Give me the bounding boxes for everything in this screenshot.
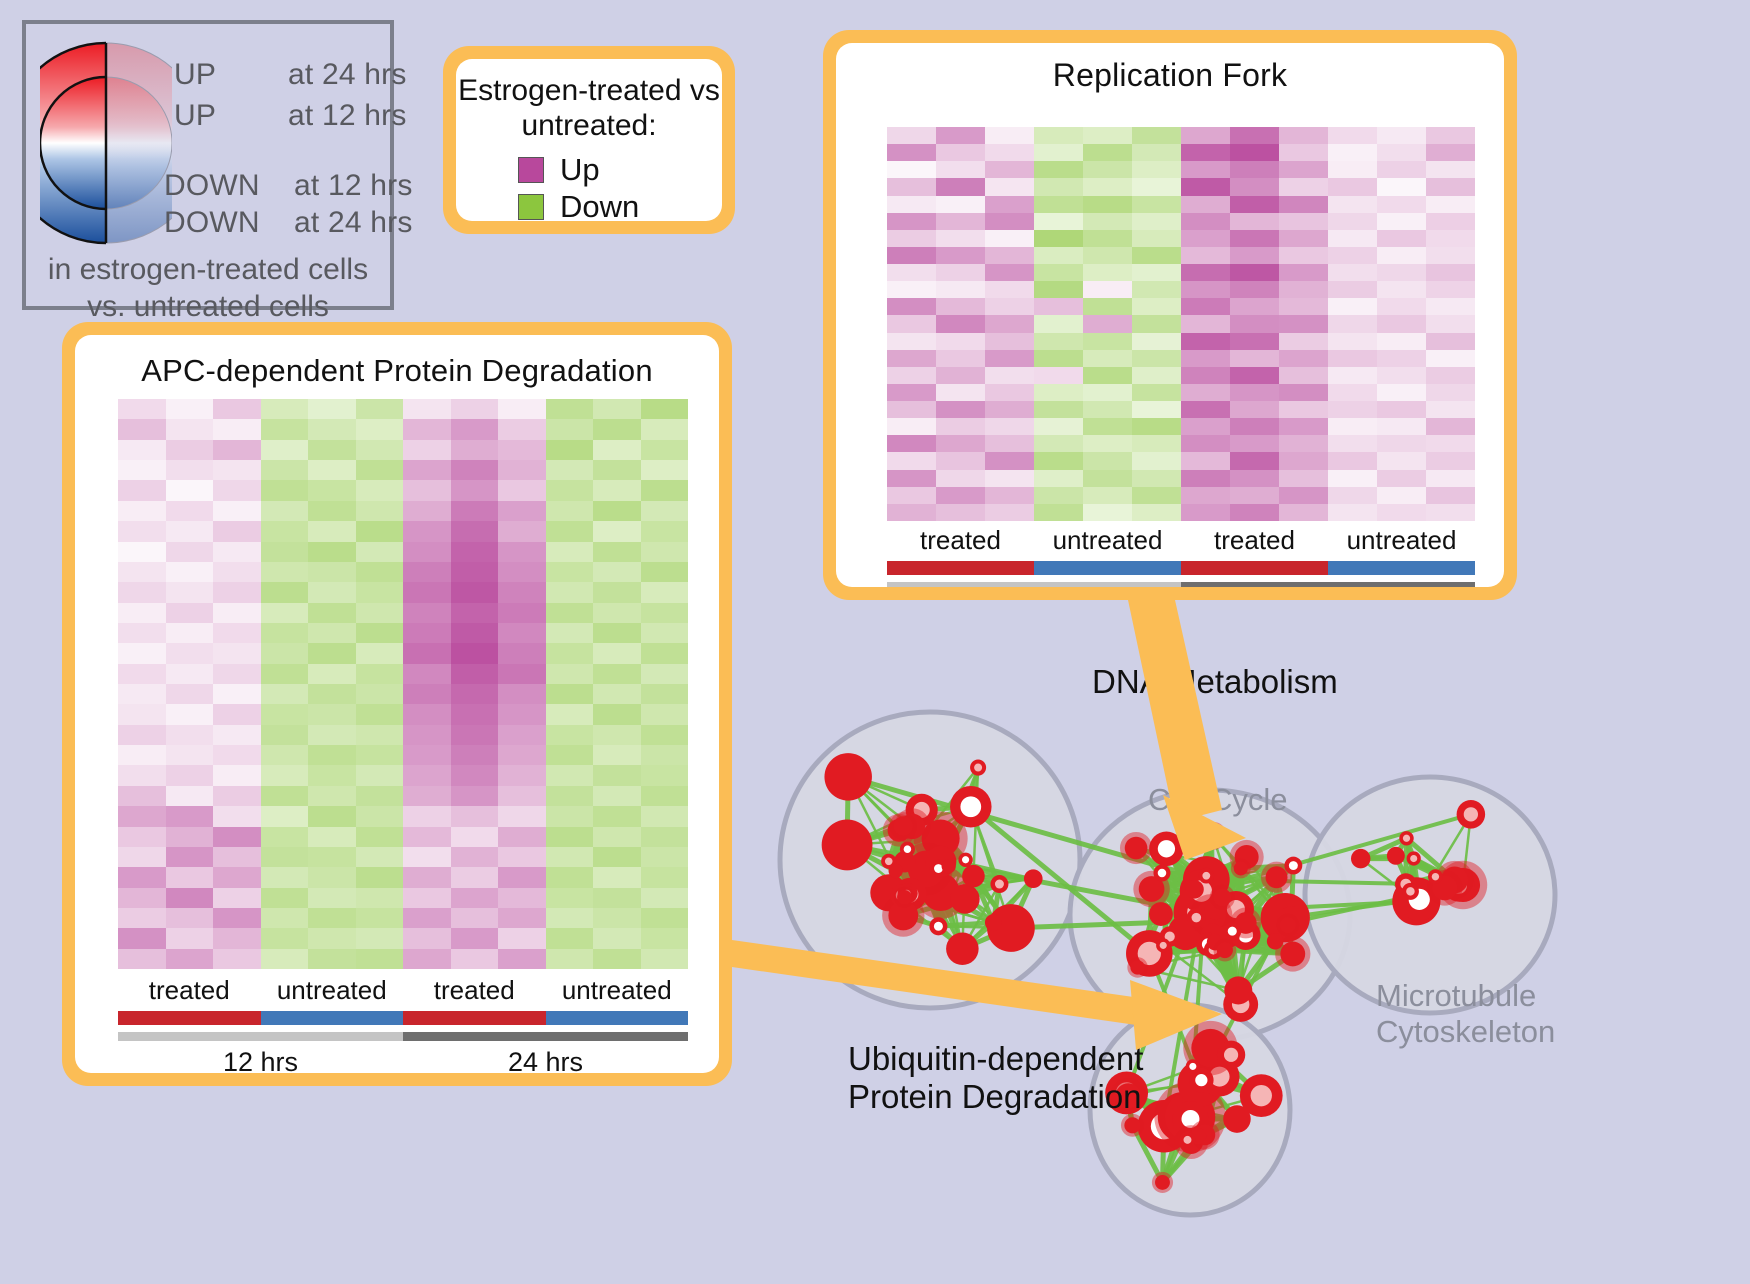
network-node-core [1228, 927, 1237, 936]
heatmap-cell [1132, 350, 1181, 367]
network-node[interactable] [1217, 942, 1233, 958]
heatmap-cell [261, 847, 309, 867]
apc-heatmap [118, 399, 688, 969]
heatmap-cell [593, 867, 641, 887]
heatmap-cell [261, 542, 309, 562]
network-node-core [1184, 1136, 1192, 1144]
heatmap-cell [1083, 452, 1132, 469]
heatmap-cell [261, 806, 309, 826]
network-node[interactable] [950, 884, 980, 914]
heatmap-cell [451, 521, 499, 541]
network-node-core [1192, 913, 1202, 923]
heatmap-cell [1377, 247, 1426, 264]
heatmap-cell [1426, 264, 1475, 281]
heatmap-cell [356, 888, 404, 908]
heatmap-cell [1083, 333, 1132, 350]
heatmap-cell [308, 928, 356, 948]
heatmap-cell [593, 745, 641, 765]
heatmap-cell [546, 928, 594, 948]
treatment-label: untreated [1034, 525, 1181, 556]
heatmap-cell [641, 786, 689, 806]
heatmap-cell [641, 847, 689, 867]
ring-label-down-24: DOWN [164, 206, 260, 240]
heatmap-cell [1426, 367, 1475, 384]
heatmap-cell [1279, 213, 1328, 230]
heatmap-cell [546, 664, 594, 684]
heatmap-cell [1279, 264, 1328, 281]
heatmap-cell [261, 888, 309, 908]
heatmap-cell [1328, 350, 1377, 367]
heatmap-cell [546, 806, 594, 826]
heatmap-cell [593, 603, 641, 623]
heatmap-cell [641, 765, 689, 785]
heatmap-cell [403, 440, 451, 460]
heatmap-cell [1132, 367, 1181, 384]
heatmap-cell [403, 908, 451, 928]
heatmap-cell [1132, 144, 1181, 161]
heatmap-cell [1181, 401, 1230, 418]
network-node[interactable] [985, 914, 1002, 931]
network-node-core [1158, 869, 1167, 878]
heatmap-cell [641, 440, 689, 460]
treatment-label: treated [118, 975, 261, 1006]
heatmap-cell [985, 487, 1034, 504]
heatmap-cell [118, 949, 166, 969]
network-node[interactable] [822, 820, 873, 871]
heatmap-cell [403, 725, 451, 745]
heatmap-cell [1279, 196, 1328, 213]
heatmap-cell [118, 765, 166, 785]
heatmap-cell [1132, 401, 1181, 418]
heatmap-cell [1279, 178, 1328, 195]
heatmap-cell [641, 521, 689, 541]
network-node[interactable] [889, 864, 903, 878]
heatmap-cell [261, 949, 309, 969]
heatmap-cell [593, 949, 641, 969]
heatmap-cell [641, 623, 689, 643]
heatmap-cell [261, 725, 309, 745]
heatmap-cell [887, 127, 936, 144]
network-node-core [1410, 855, 1417, 862]
heatmap-cell [641, 562, 689, 582]
heatmap-cell [1181, 470, 1230, 487]
heatmap-cell [308, 460, 356, 480]
heatmap-cell [213, 704, 261, 724]
heatmap-cell [1034, 350, 1083, 367]
treatment-labels-row: treateduntreatedtreateduntreated [118, 975, 688, 1006]
heatmap-cell [166, 643, 214, 663]
heatmap-cell [593, 827, 641, 847]
heatmap-cell [498, 949, 546, 969]
heatmap-cell [1083, 418, 1132, 435]
heatmap-cell [403, 847, 451, 867]
heatmap-cell [403, 765, 451, 785]
heatmap-cell [1377, 161, 1426, 178]
heatmap-cell [936, 230, 985, 247]
heatmap-cell [1034, 435, 1083, 452]
heatmap-cell [213, 765, 261, 785]
heatmap-cell [936, 504, 985, 521]
time-label: 24 hrs [403, 1047, 688, 1073]
network-node[interactable] [1266, 866, 1288, 888]
heatmap-cell [213, 623, 261, 643]
treatment-bar-segment [1328, 561, 1475, 575]
heatmap-cell [166, 786, 214, 806]
heatmap-cell [887, 213, 936, 230]
heatmap-cell [936, 161, 985, 178]
heatmap-cell [936, 470, 985, 487]
heatmap-cell [213, 725, 261, 745]
heatmap-cell [356, 786, 404, 806]
network-node[interactable] [1130, 960, 1144, 974]
heatmap-cell [546, 827, 594, 847]
heatmap-cell [1279, 127, 1328, 144]
heatmap-cell [498, 582, 546, 602]
heatmap-cell [887, 281, 936, 298]
heatmap-cell [451, 867, 499, 887]
heatmap-cell [308, 562, 356, 582]
heatmap-cell [1083, 178, 1132, 195]
heatmap-cell [1328, 178, 1377, 195]
treatment-bar-segment [261, 1011, 404, 1025]
heatmap-cell [1328, 504, 1377, 521]
heatmap-cell [887, 487, 936, 504]
heatmap-cell [985, 452, 1034, 469]
heatmap-cell [498, 765, 546, 785]
heatmap-cell [356, 745, 404, 765]
heatmap-cell [498, 786, 546, 806]
cluster-label-ubiquitin-degradation: Ubiquitin-dependent Protein Degradation [848, 1040, 1143, 1117]
heatmap-cell [593, 419, 641, 439]
network-node-core [1158, 840, 1175, 857]
network-node[interactable] [1213, 888, 1231, 906]
heatmap-cell [546, 399, 594, 419]
network-graph-svg [770, 610, 1750, 1279]
up-label: Up [560, 152, 600, 188]
network-node[interactable] [893, 816, 912, 835]
network-node[interactable] [942, 859, 956, 873]
network-diagram: DNA Metabolism Cell Cycle Microtubule Cy… [770, 610, 1750, 1279]
heatmap-cell [1083, 435, 1132, 452]
heatmap-cell [261, 582, 309, 602]
heatmap-cell [546, 684, 594, 704]
network-node[interactable] [824, 753, 871, 800]
heatmap-cell [546, 765, 594, 785]
heatmap-cell [403, 623, 451, 643]
heatmap-cell [213, 664, 261, 684]
heatmap-cell [451, 888, 499, 908]
network-node-core [1403, 835, 1410, 842]
heatmap-cell [498, 928, 546, 948]
heatmap-cell [1230, 401, 1279, 418]
heatmap-cell [356, 521, 404, 541]
network-node[interactable] [1267, 933, 1284, 950]
heatmap-cell [546, 725, 594, 745]
heatmap-cell [593, 684, 641, 704]
heatmap-cell [308, 582, 356, 602]
heatmap-cell [166, 542, 214, 562]
heatmap-cell [1181, 196, 1230, 213]
heatmap-cell [1328, 435, 1377, 452]
heatmap-cell [213, 542, 261, 562]
heatmap-cell [356, 908, 404, 928]
heatmap-cell [1034, 213, 1083, 230]
heatmap-cell [403, 867, 451, 887]
heatmap-cell [641, 643, 689, 663]
network-node[interactable] [1125, 837, 1148, 860]
heatmap-cell [1034, 281, 1083, 298]
heatmap-cell [887, 384, 936, 401]
heatmap-cell [546, 786, 594, 806]
heatmap-cell [1328, 144, 1377, 161]
heatmap-cell [118, 562, 166, 582]
heatmap-cell [118, 419, 166, 439]
heatmap-cell [936, 333, 985, 350]
heatmap-cell [166, 908, 214, 928]
heatmap-cell [356, 827, 404, 847]
heatmap-cell [887, 367, 936, 384]
replication-fork-title: Replication Fork [836, 57, 1504, 94]
heatmap-cell [498, 562, 546, 582]
heatmap-cell [118, 399, 166, 419]
heatmap-cell [1279, 367, 1328, 384]
heatmap-cell [887, 161, 936, 178]
heatmap-cell [1230, 127, 1279, 144]
heatmap-cell [1034, 298, 1083, 315]
treatment-bar-segment [546, 1011, 689, 1025]
heatmap-cell [451, 440, 499, 460]
heatmap-cell [166, 867, 214, 887]
heatmap-cell [1132, 213, 1181, 230]
heatmap-cell [936, 144, 985, 161]
heatmap-cell [1279, 298, 1328, 315]
heatmap-cell [1230, 350, 1279, 367]
heatmap-cell [1328, 213, 1377, 230]
heatmap-cell [308, 542, 356, 562]
heatmap-cell [641, 419, 689, 439]
heatmap-cell [887, 247, 936, 264]
heatmap-cell [1377, 281, 1426, 298]
heatmap-cell [356, 847, 404, 867]
heatmap-cell [641, 399, 689, 419]
heatmap-cell [261, 908, 309, 928]
heatmap-cell [546, 603, 594, 623]
heatmap-cell [936, 127, 985, 144]
heatmap-cell [1230, 504, 1279, 521]
heatmap-cell [593, 806, 641, 826]
network-node[interactable] [946, 933, 979, 966]
network-node-core [1464, 807, 1478, 821]
network-node-core [960, 796, 981, 817]
heatmap-cell [403, 806, 451, 826]
heatmap-cell [1083, 298, 1132, 315]
heatmap-cell [403, 501, 451, 521]
heatmap-cell [213, 786, 261, 806]
heatmap-cell [1426, 230, 1475, 247]
apc-annotation: treateduntreatedtreateduntreated 12 hrs2… [118, 975, 688, 1073]
heatmap-cell [403, 521, 451, 541]
heatmap-cell [641, 684, 689, 704]
network-node[interactable] [1155, 1175, 1170, 1190]
heatmap-cell [261, 928, 309, 948]
heatmap-cell [1426, 161, 1475, 178]
heatmap-cell [1230, 281, 1279, 298]
heatmap-cell [308, 643, 356, 663]
network-node[interactable] [1203, 826, 1223, 846]
heatmap-cell [498, 725, 546, 745]
heatmap-cell [213, 582, 261, 602]
heatmap-cell [451, 419, 499, 439]
heatmap-cell [1181, 333, 1230, 350]
heatmap-cell [985, 247, 1034, 264]
network-node[interactable] [897, 890, 912, 905]
up-color-swatch [518, 157, 544, 183]
network-node[interactable] [1223, 1105, 1251, 1133]
heatmap-cell [1132, 452, 1181, 469]
heatmap-cell [213, 399, 261, 419]
heatmap-cell [1328, 384, 1377, 401]
heatmap-cell [1132, 281, 1181, 298]
heatmap-cell [546, 501, 594, 521]
ring-legend-diagram [40, 38, 172, 248]
heatmap-cell [118, 806, 166, 826]
heatmap-cell [1083, 264, 1132, 281]
heatmap-cell [166, 725, 214, 745]
time-bar-segment [118, 1032, 403, 1041]
network-node[interactable] [1124, 1117, 1140, 1133]
heatmap-cell [546, 542, 594, 562]
network-node[interactable] [1224, 976, 1252, 1004]
heatmap-cell [451, 786, 499, 806]
heatmap-cell [166, 806, 214, 826]
network-node[interactable] [962, 865, 985, 888]
heatmap-cell [1328, 418, 1377, 435]
heatmap-cell [1132, 470, 1181, 487]
heatmap-cell [936, 487, 985, 504]
network-node[interactable] [1185, 880, 1204, 899]
heatmap-cell [166, 847, 214, 867]
heatmap-cell [1426, 247, 1475, 264]
heatmap-cell [118, 460, 166, 480]
heatmap-cell [641, 888, 689, 908]
heatmap-cell [118, 664, 166, 684]
network-node[interactable] [1149, 902, 1173, 926]
heatmap-cell [887, 435, 936, 452]
heatmap-cell [985, 264, 1034, 281]
heatmap-cell [641, 725, 689, 745]
heatmap-cell [451, 949, 499, 969]
heatmap-cell [1083, 350, 1132, 367]
heatmap-cell [261, 623, 309, 643]
treatment-labels-row: treateduntreatedtreateduntreated [887, 525, 1475, 556]
heatmap-cell [213, 847, 261, 867]
network-node[interactable] [1387, 847, 1405, 865]
heatmap-cell [1034, 161, 1083, 178]
heatmap-cell [1328, 127, 1377, 144]
cluster-label-microtubule-cytoskeleton: Microtubule Cytoskeleton [1376, 978, 1555, 1050]
heatmap-cell [641, 460, 689, 480]
cluster-label-dna-metabolism: DNA Metabolism [1092, 663, 1338, 701]
replication-fork-heatmap [887, 127, 1475, 521]
heatmap-cell [261, 745, 309, 765]
ring-label-at-12-top: at 12 hrs [288, 99, 407, 133]
heatmap-cell [1279, 470, 1328, 487]
network-node[interactable] [1280, 917, 1296, 933]
heatmap-cell [308, 623, 356, 643]
heatmap-cell [213, 928, 261, 948]
heatmap-cell [1083, 367, 1132, 384]
heatmap-cell [118, 867, 166, 887]
network-node-core [1289, 861, 1298, 870]
heatmap-cell [887, 315, 936, 332]
heatmap-cell [118, 623, 166, 643]
heatmap-cell [1181, 384, 1230, 401]
heatmap-cell [1034, 452, 1083, 469]
heatmap-cell [593, 501, 641, 521]
heatmap-cell [1083, 230, 1132, 247]
heatmap-cell [1279, 435, 1328, 452]
heatmap-cell [1132, 333, 1181, 350]
heatmap-cell [498, 847, 546, 867]
heatmap-cell [1132, 418, 1181, 435]
heatmap-cell [118, 786, 166, 806]
heatmap-cell [451, 643, 499, 663]
heatmap-cell [451, 603, 499, 623]
heatmap-cell [261, 765, 309, 785]
heatmap-cell [936, 196, 985, 213]
treatment-label: treated [403, 975, 546, 1006]
heatmap-cell [213, 827, 261, 847]
heatmap-cell [1279, 504, 1328, 521]
network-node[interactable] [1234, 861, 1248, 875]
heatmap-cell [498, 521, 546, 541]
heatmap-cell [641, 867, 689, 887]
heatmap-cell [1377, 452, 1426, 469]
heatmap-cell [1181, 247, 1230, 264]
heatmap-cell [213, 603, 261, 623]
heatmap-cell [308, 949, 356, 969]
network-node[interactable] [1280, 942, 1305, 967]
heatmap-cell [118, 521, 166, 541]
heatmap-cell [1279, 247, 1328, 264]
replication-fork-annotation: treateduntreatedtreateduntreated 12 hrs2… [887, 525, 1475, 587]
treatment-bar-segment [118, 1011, 261, 1025]
heatmap-cell [356, 603, 404, 623]
heatmap-cell [593, 623, 641, 643]
heatmap-cell [261, 460, 309, 480]
heatmap-cell [261, 603, 309, 623]
heatmap-cell [593, 928, 641, 948]
heatmap-cell [261, 440, 309, 460]
network-node[interactable] [1351, 849, 1370, 868]
heatmap-cell [593, 888, 641, 908]
heatmap-cell [1230, 452, 1279, 469]
heatmap-cell [1377, 315, 1426, 332]
heatmap-cell [593, 847, 641, 867]
network-node[interactable] [1024, 869, 1043, 888]
heatmap-cell [1377, 333, 1426, 350]
heatmap-cell [1083, 127, 1132, 144]
heatmap-cell [1230, 470, 1279, 487]
heatmap-cell [985, 196, 1034, 213]
heatmap-cell [1230, 333, 1279, 350]
heatmap-cell [1181, 418, 1230, 435]
heatmap-cell [1377, 401, 1426, 418]
heatmap-cell [1328, 196, 1377, 213]
heatmap-cell [118, 928, 166, 948]
heatmap-cell [1328, 264, 1377, 281]
heatmap-cell [546, 480, 594, 500]
